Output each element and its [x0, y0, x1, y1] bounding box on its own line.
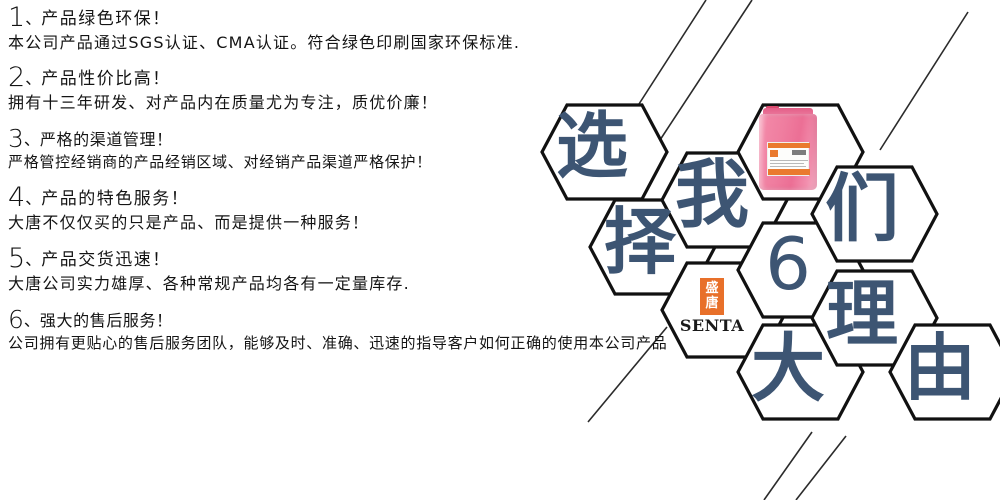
reason-heading: 5、产品交货迅速！	[8, 245, 708, 272]
hex-cell-you	[890, 325, 1000, 419]
reason-body: 大唐公司实力雄厚、各种常规产品均各有一定量库存.	[8, 275, 708, 293]
reason-heading: 6、强大的售后服务！	[8, 307, 708, 332]
reason-body: 本公司产品通过SGS认证、CMA认证。符合绿色印刷国家环保标准.	[8, 34, 708, 52]
logo-wordmark: SENTA	[672, 316, 752, 335]
reason-body: 拥有十三年研发、对产品内在质量尤为专注，质优价廉！	[8, 94, 708, 112]
reason-item-6: 6、强大的售后服务！ 公司拥有更贴心的售后服务团队，能够及时、准确、迅速的指导客…	[8, 307, 708, 352]
promo-banner: 选 择 我 6 大 们 理 由 盛 唐 SENTA	[0, 0, 1000, 500]
reason-heading: 3、严格的渠道管理！	[8, 126, 708, 151]
label-line	[770, 163, 804, 164]
reason-number: 6	[8, 305, 24, 334]
reason-heading: 2、产品性价比高！	[8, 64, 708, 91]
senta-logo: 盛 唐 SENTA	[672, 278, 752, 335]
label-bottom-bar	[768, 169, 810, 175]
hex-label-you: 由	[890, 332, 990, 404]
reason-item-4: 4、产品的特色服务！ 大唐不仅仅买的只是产品、而是提供一种服务！	[8, 184, 708, 232]
reason-number: 2	[8, 62, 25, 93]
hex-cell-men	[812, 167, 937, 261]
reason-title: 严格的渠道管理！	[40, 130, 173, 149]
hex-cell-da	[738, 325, 863, 419]
reason-title: 产品交货迅速！	[41, 250, 171, 270]
hex-cell-li	[812, 271, 937, 365]
reason-number: 3	[8, 124, 24, 153]
reason-title: 产品绿色环保！	[41, 9, 171, 29]
reason-separator: 、	[24, 311, 40, 330]
reason-separator: 、	[25, 250, 41, 269]
reason-body: 严格管控经销商的产品经销区域、对经销产品渠道严格保护！	[8, 154, 708, 171]
reason-number: 1	[8, 2, 25, 33]
reason-separator: 、	[25, 189, 41, 208]
label-line	[770, 160, 808, 161]
jerrycan-label	[767, 142, 809, 176]
hex-label-six: 6	[738, 228, 838, 300]
reason-item-5: 5、产品交货迅速！ 大唐公司实力雄厚、各种常规产品均各有一定量库存.	[8, 245, 708, 293]
logo-char-sheng: 盛	[701, 281, 723, 296]
hex-label-men: 们	[812, 172, 912, 246]
label-line	[770, 166, 806, 167]
label-title-block	[792, 150, 806, 155]
reason-separator: 、	[25, 9, 41, 28]
reason-separator: 、	[24, 130, 40, 149]
reason-title: 产品的特色服务！	[41, 189, 189, 209]
hex-label-li: 理	[812, 278, 912, 350]
reason-heading: 4、产品的特色服务！	[8, 184, 708, 211]
reason-separator: 、	[25, 69, 41, 88]
reason-heading: 1、产品绿色环保！	[8, 4, 708, 31]
hex-cell-six	[738, 223, 863, 317]
reason-body: 公司拥有更贴心的售后服务团队，能够及时、准确、迅速的指导客户如何正确的使用本公司…	[8, 335, 708, 352]
reason-title: 强大的售后服务！	[40, 311, 173, 330]
logo-mark-shengtang: 盛 唐	[700, 278, 724, 315]
reason-item-2: 2、产品性价比高！ 拥有十三年研发、对产品内在质量尤为专注，质优价廉！	[8, 64, 708, 112]
jerrycan-body	[759, 114, 817, 190]
reason-item-3: 3、严格的渠道管理！ 严格管控经销商的产品经销区域、对经销产品渠道严格保护！	[8, 126, 708, 171]
reason-title: 产品性价比高！	[41, 69, 171, 89]
product-jerrycan-image	[759, 106, 817, 190]
reason-item-1: 1、产品绿色环保！ 本公司产品通过SGS认证、CMA认证。符合绿色印刷国家环保标…	[8, 4, 708, 52]
label-top-bar	[768, 143, 810, 148]
reason-number: 5	[8, 243, 25, 274]
hex-label-da: 大	[738, 332, 838, 406]
label-logo-swatch	[770, 150, 778, 157]
logo-char-tang: 唐	[701, 296, 723, 311]
reason-body: 大唐不仅仅买的只是产品、而是提供一种服务！	[8, 214, 708, 232]
reasons-list: 1、产品绿色环保！ 本公司产品通过SGS认证、CMA认证。符合绿色印刷国家环保标…	[8, 4, 708, 360]
reason-number: 4	[8, 182, 25, 213]
